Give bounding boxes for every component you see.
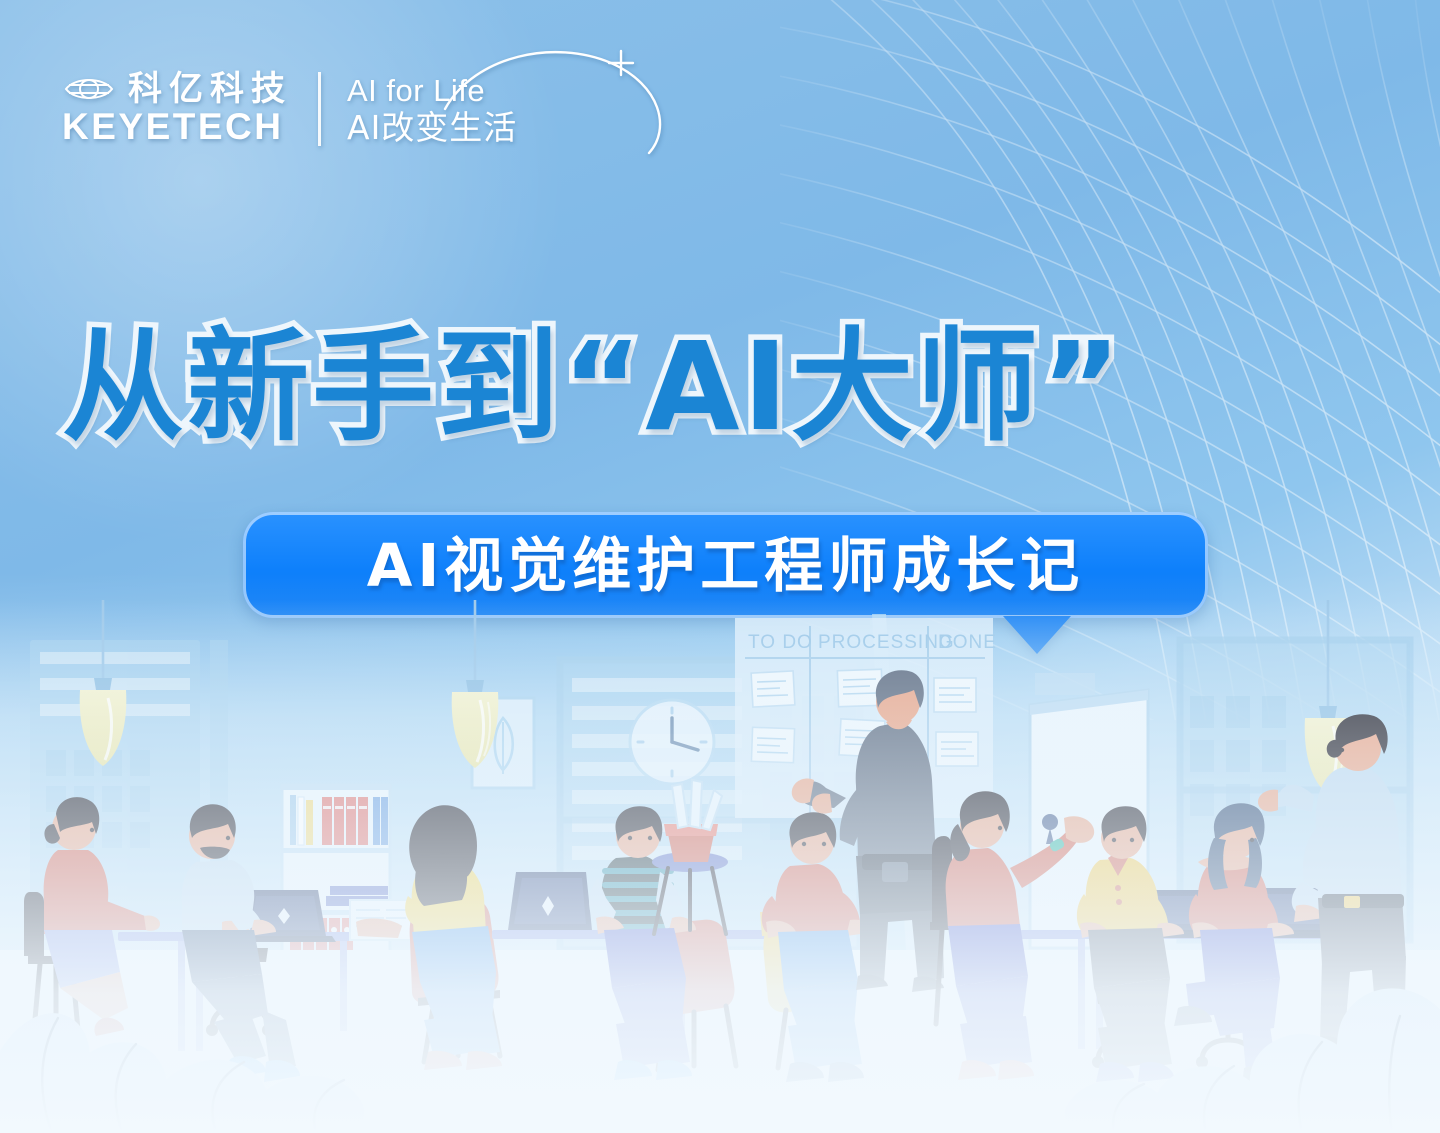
swoosh-decoration: [435, 37, 685, 157]
svg-text:DONE: DONE: [938, 632, 997, 653]
svg-text:PROCESSING: PROCESSING: [818, 632, 955, 653]
eye-icon: [62, 74, 116, 104]
svg-text:TO DO: TO DO: [748, 632, 813, 653]
brand-logo[interactable]: 科亿科技 KEYETECH AI for Life AI改变生活: [62, 72, 517, 147]
office-illustration: TO DO PROCESSING DONE: [0, 600, 1440, 1133]
brand-slogan: AI for Life AI改变生活: [347, 75, 517, 144]
brand-name-block: 科亿科技 KEYETECH: [62, 72, 292, 147]
hero-title: 从新手到“AI大师”: [62, 326, 1124, 448]
office-scene-svg: TO DO PROCESSING DONE: [0, 600, 1440, 1133]
poster-canvas: 科亿科技 KEYETECH AI for Life AI改变生活 从新手到“AI…: [0, 0, 1440, 1133]
brand-cn-name: 科亿科技: [128, 72, 292, 106]
brand-en-name: KEYETECH: [62, 108, 292, 147]
wall-clock: [630, 700, 714, 784]
logo-divider: [318, 72, 321, 146]
hero-subtitle: AI视觉维护工程师成长记: [367, 536, 1085, 595]
